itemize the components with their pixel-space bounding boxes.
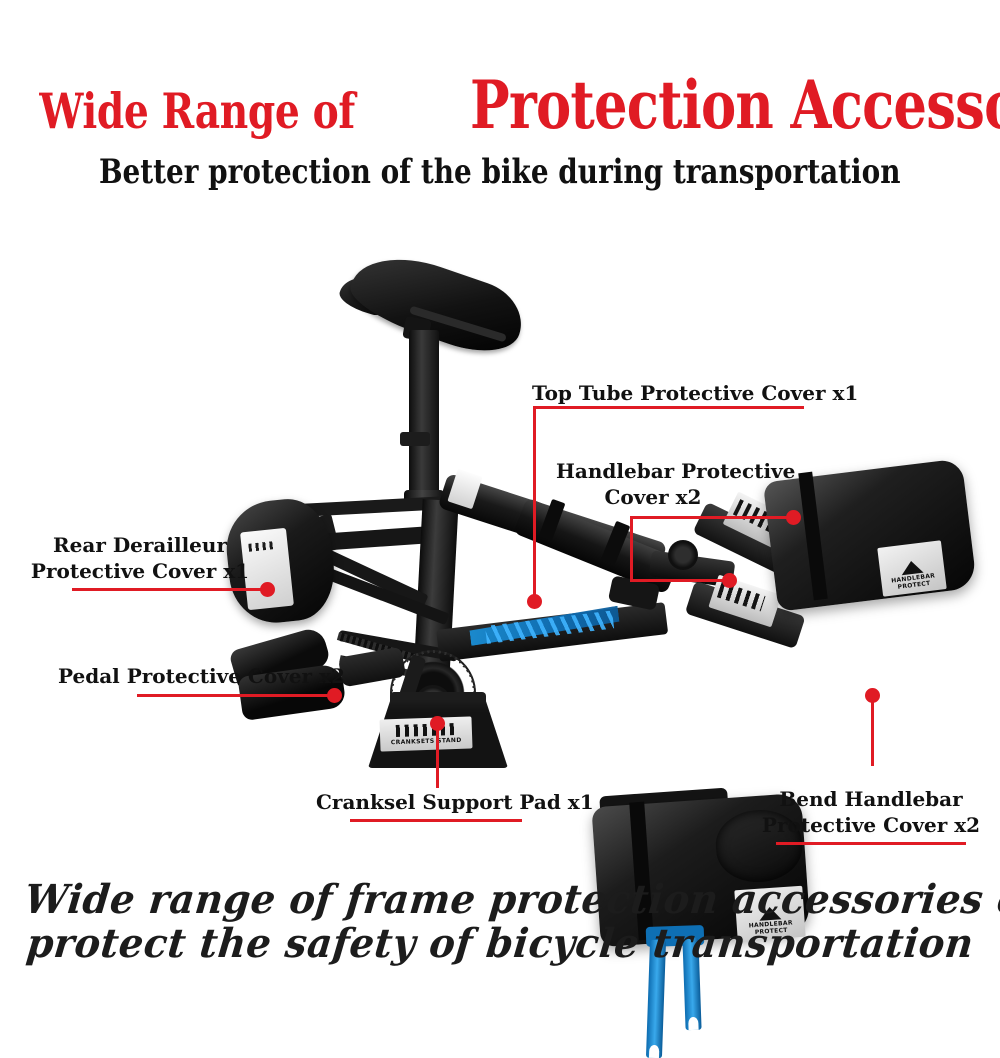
callout-rear-derailleur-line2: Protective Cover x1 bbox=[28, 558, 252, 584]
footer-tagline-line1: Wide range of frame protection accessori… bbox=[0, 878, 1000, 921]
callout-rear-derailleur-pointer-dot bbox=[260, 582, 275, 597]
callout-handlebar-line1: Handlebar Protective bbox=[556, 458, 750, 484]
callout-pedal-pointer-dot bbox=[327, 688, 342, 703]
callout-handlebar-line2: Cover x2 bbox=[556, 484, 750, 510]
stem-top-cap bbox=[668, 540, 698, 570]
callout-pedal-leader bbox=[137, 694, 335, 697]
callout-top-tube-underline bbox=[533, 406, 804, 409]
callout-bend-handlebar-leader-vertical bbox=[871, 694, 874, 766]
infographic-page: Wide Range of Protection Accessories Bet… bbox=[0, 0, 1000, 970]
callout-bend-handlebar: Bend Handlebar Protective Cover x2 bbox=[760, 786, 982, 838]
callout-bend-handlebar-line2: Protective Cover x2 bbox=[760, 812, 982, 838]
callout-bend-handlebar-pointer-dot bbox=[865, 688, 880, 703]
page-subtitle: Better protection of the bike during tra… bbox=[0, 152, 1000, 192]
callout-top-tube-leader-vertical bbox=[533, 406, 536, 602]
callout-rear-derailleur-line1: Rear Derailleur bbox=[28, 532, 252, 558]
callout-handlebar-leader-lower bbox=[630, 579, 730, 582]
seatpost bbox=[409, 330, 439, 505]
seatpost-clamp bbox=[400, 432, 430, 446]
page-title-lead: Wide Range of bbox=[39, 87, 354, 136]
callout-crankset: Cranksel Support Pad x1 bbox=[316, 789, 556, 815]
page-title-emphasis: Protection Accessories bbox=[470, 72, 1000, 138]
callout-top-tube-pointer-dot bbox=[527, 594, 542, 609]
callout-bend-handlebar-line1: Bend Handlebar bbox=[760, 786, 982, 812]
crankset-stand-label-text: CRANKSETS STAND bbox=[391, 736, 462, 745]
callout-handlebar-pointer-dot-lower bbox=[722, 573, 737, 588]
callout-bend-handlebar-underline bbox=[776, 842, 966, 845]
callout-crankset-pointer-dot bbox=[430, 716, 445, 731]
page-subtitle-text: Better protection of the bike during tra… bbox=[99, 152, 901, 192]
callout-rear-derailleur: Rear Derailleur Protective Cover x1 bbox=[28, 532, 252, 584]
footer-tagline-line1-text: Wide range of frame protection accessori… bbox=[23, 878, 1000, 921]
page-title: Wide Range of Protection Accessories bbox=[0, 72, 1000, 138]
callout-handlebar-pointer-dot-upper bbox=[786, 510, 801, 525]
callout-handlebar-leader-vertical bbox=[630, 516, 633, 582]
callout-pedal-line1: Pedal Protective Cover x2 bbox=[58, 663, 345, 689]
callout-rear-derailleur-leader bbox=[72, 588, 268, 591]
callout-pedal: Pedal Protective Cover x2 bbox=[58, 663, 345, 689]
callout-handlebar: Handlebar Protective Cover x2 bbox=[556, 458, 750, 510]
callout-top-tube: Top Tube Protective Cover x1 bbox=[532, 380, 858, 406]
handlebar-protect-label-upper: HANDLEBAR PROTECT bbox=[877, 540, 946, 596]
callout-handlebar-leader-right bbox=[630, 516, 794, 519]
crankset-stand-label: CRANKSETS STAND bbox=[379, 716, 472, 751]
callout-crankset-underline bbox=[350, 819, 522, 822]
handlebar-protect-text-upper-2: PROTECT bbox=[897, 581, 931, 592]
callout-crankset-leader-vertical bbox=[436, 722, 439, 788]
footer-tagline-line2: protect the safety of bicycle transporta… bbox=[0, 922, 1000, 965]
crankset-stand-label-mark bbox=[396, 722, 456, 736]
callout-top-tube-line1: Top Tube Protective Cover x1 bbox=[532, 380, 858, 406]
footer-tagline-line2-text: protect the safety of bicycle transporta… bbox=[24, 922, 975, 965]
callout-crankset-line1: Cranksel Support Pad x1 bbox=[316, 789, 556, 815]
